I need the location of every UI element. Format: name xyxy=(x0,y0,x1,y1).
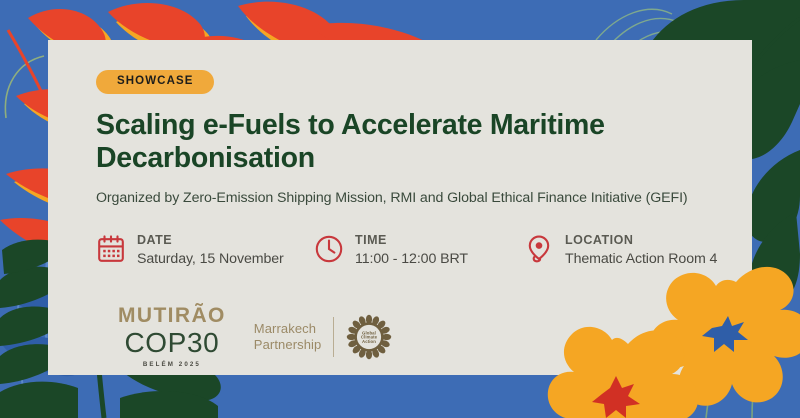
event-poster: SHOWCASE Scaling e-Fuels to Accelerate M… xyxy=(0,0,800,418)
orange-flower-lower-icon xyxy=(548,327,698,418)
foreground-decoration xyxy=(0,0,800,418)
